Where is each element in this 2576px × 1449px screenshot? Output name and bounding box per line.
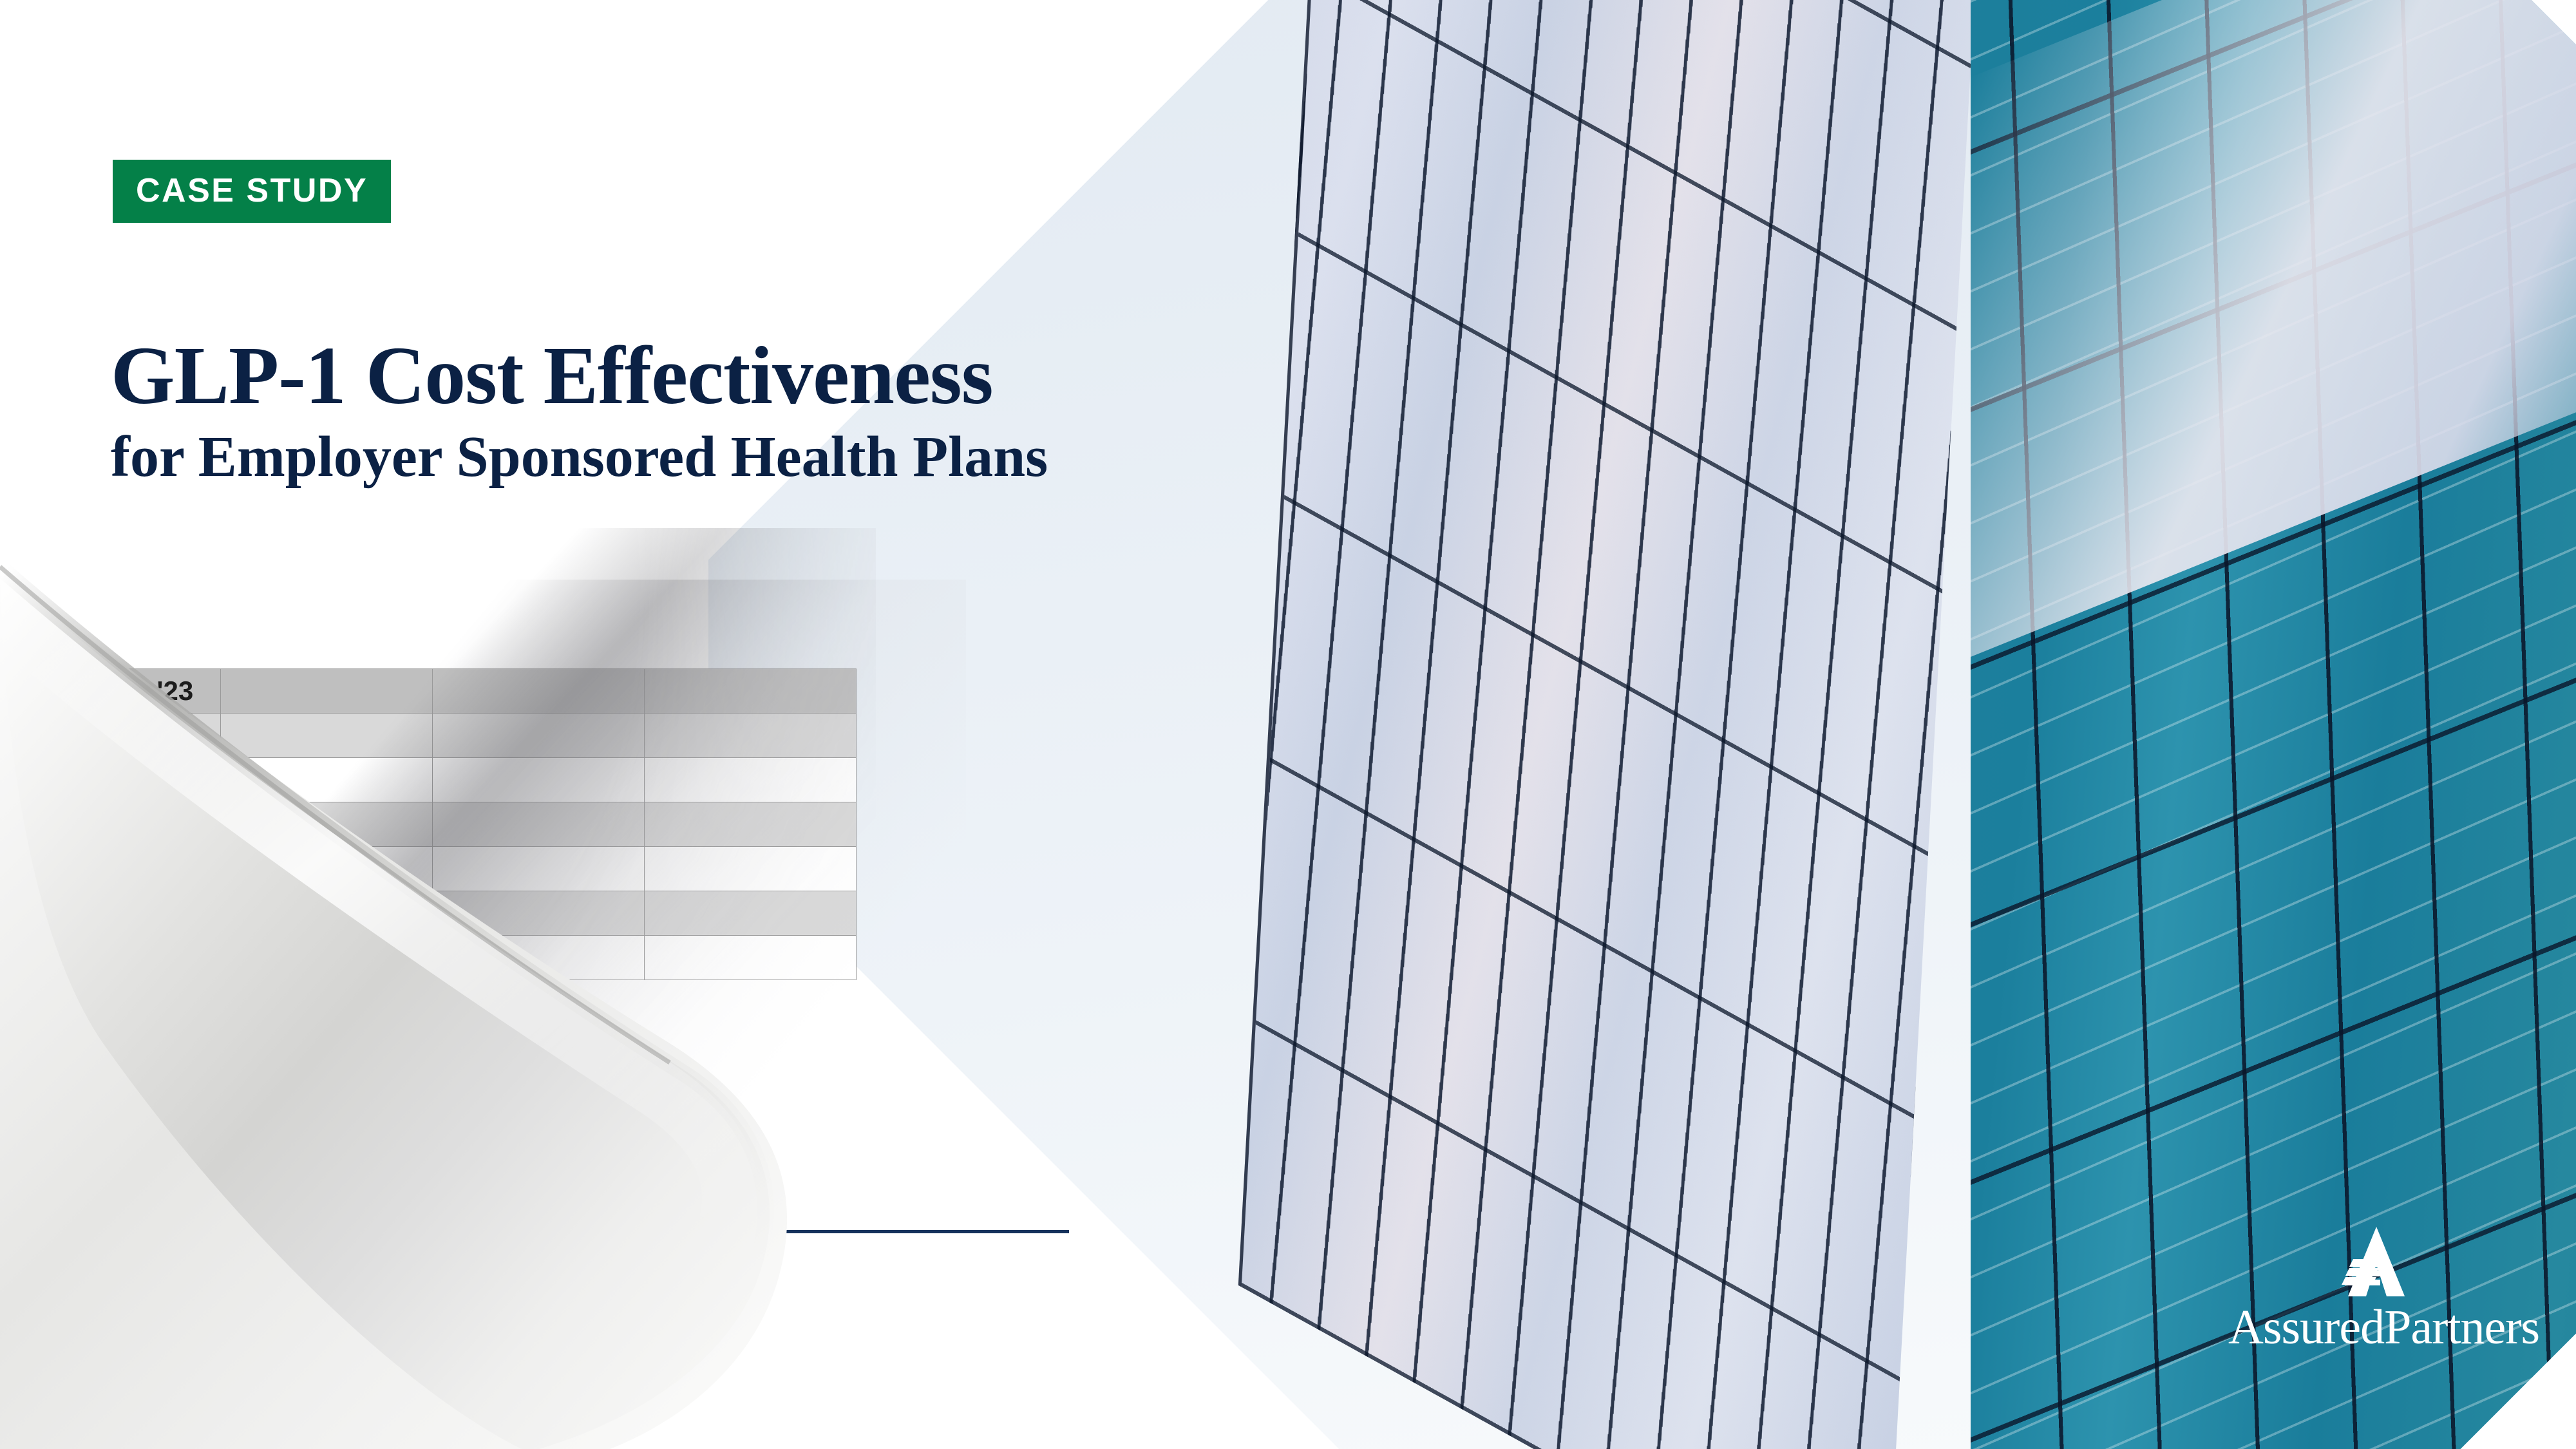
table-cell [645,758,857,802]
table-cell [221,891,433,936]
table-cell-quarter: Q4 '24 [86,936,221,980]
table-cell [433,847,645,891]
table-cell [433,936,645,980]
footnote-text-line-1: Anti-Obesity agent $PEPM is calculated u… [134,1261,580,1285]
footnote-list: 1. Anti-Obesity agent $PEPM is calculate… [84,1259,1501,1347]
table-cell [645,891,857,936]
table-cell [221,936,433,980]
table-row: Q2 '24 [86,847,857,891]
footnote-number: 2. [84,1318,134,1347]
floor-bands-left [1242,0,1987,1449]
table-cell [433,891,645,936]
footnote-item: 2. n = 323,110 [84,1318,1501,1347]
table-row: Q4 '24 [86,936,857,980]
table-row: Q4 '23 [86,758,857,802]
quarterly-data-table: Q2 '23 Q3 '23 Q4 '23 Q1 '24 [86,668,857,980]
footnote-text: n = 323,110 [134,1318,1501,1347]
case-study-badge: CASE STUDY [113,160,391,223]
table-cell-quarter: Q4 '23 [86,758,221,802]
table-cell [221,669,433,714]
body-line-2: exceeding antidiabetic drugs [84,1095,492,1131]
table-cell-quarter: Q2 '23 [86,669,221,714]
table-cell [645,669,857,714]
assuredpartners-a-icon [2340,1227,2412,1296]
table-cell-quarter: Q2 '24 [86,847,221,891]
body-emphasis: >$900,000 in 2025 for GLP-1 dru [84,1135,1404,1179]
footnote-text-line-2: plans that allow coverage. About 30% of … [134,1291,589,1315]
footnote-number: 1. [84,1259,134,1318]
table-row: Q1 '24 [86,802,857,847]
table-cell [645,936,857,980]
body-paragraph: Employer sponsored health exceeding anti… [84,1048,1404,1179]
table-cell [433,802,645,847]
table-row: Q2 '23 [86,669,857,714]
body-line-1: Employer sponsored health [84,1052,476,1088]
table-cell-quarter: Q3 '24 [86,891,221,936]
footnote-item: 1. Anti-Obesity agent $PEPM is calculate… [84,1259,1501,1318]
assuredpartners-logo: AssuredPartners [2228,1227,2524,1352]
table-cell [221,758,433,802]
footnote-text: Anti-Obesity agent $PEPM is calculated u… [134,1259,1501,1318]
table-cell-quarter: Q3 '23 [86,714,221,758]
slide-canvas: AssuredPartners CASE STUDY GLP-1 Cost Ef… [0,0,2576,1449]
page-subtitle: for Employer Sponsored Health Plans [111,425,1048,489]
table-cell [221,847,433,891]
table-cell [645,847,857,891]
table-cell [433,714,645,758]
table-row: Q3 '23 [86,714,857,758]
table-row: Q3 '24 [86,891,857,936]
building-face-left [1238,0,1987,1449]
table-cell [645,714,857,758]
logo-wordmark: AssuredPartners [2228,1303,2524,1352]
table-cell-quarter: Q1 '24 [86,802,221,847]
table-cell [221,802,433,847]
table-cell [433,669,645,714]
footnote-divider [84,1230,1069,1233]
table-cell [433,758,645,802]
page-title: GLP-1 Cost Effectiveness [111,332,993,420]
table-cell [221,714,433,758]
table-cell [645,802,857,847]
